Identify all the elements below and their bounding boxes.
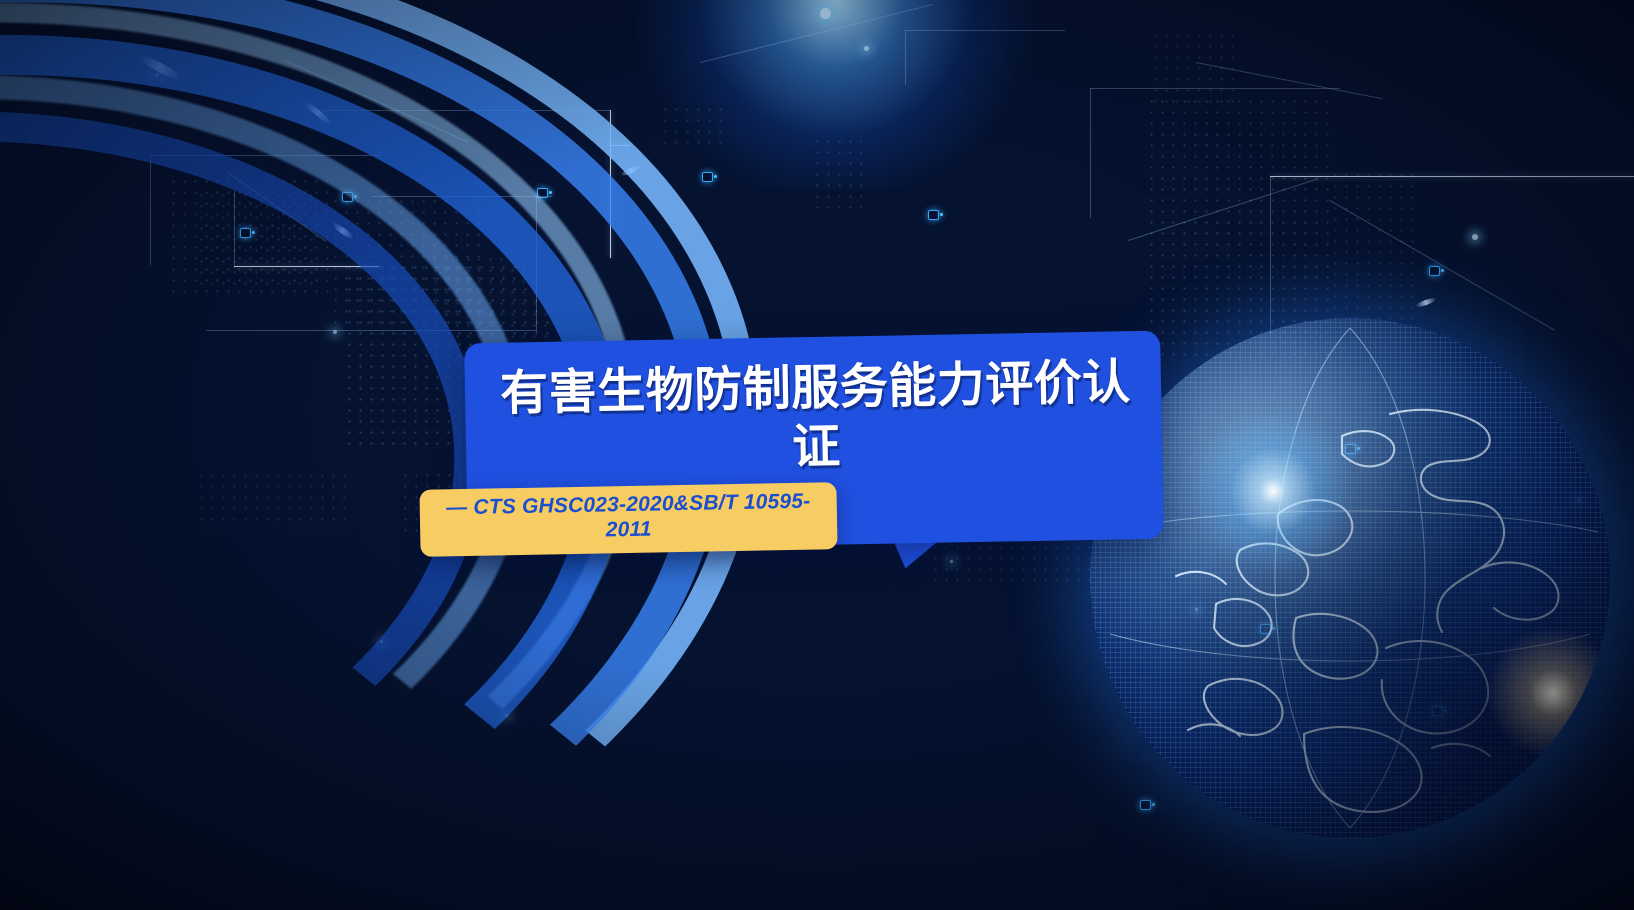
hud-square-marker-icon — [928, 210, 939, 220]
subtitle-badge: — CTS GHSC023-2020&SB/T 10595-2011 — [419, 482, 837, 556]
globe-star-flare-icon — [1178, 396, 1368, 586]
dot-matrix-grid — [1330, 170, 1420, 320]
hud-square-marker-icon — [1429, 266, 1440, 276]
light-particle — [1472, 234, 1478, 240]
tech-line — [1090, 88, 1091, 218]
tech-line — [1270, 176, 1634, 177]
subtitle-text: — CTS GHSC023-2020&SB/T 10595-2011 — [432, 489, 826, 546]
tech-line — [1090, 88, 1340, 89]
top-center-glow — [620, 0, 1050, 190]
globe-sphere — [1090, 318, 1610, 838]
dot-matrix-grid — [1150, 30, 1240, 110]
tech-diagonal-line — [1196, 62, 1383, 99]
page-title: 有害生物防制服务能力评价认证 — [495, 354, 1137, 483]
tech-diagonal-line — [1128, 178, 1319, 241]
slide-canvas: 有害生物防制服务能力评价认证 — CTS GHSC023-2020&SB/T 1… — [0, 0, 1634, 910]
